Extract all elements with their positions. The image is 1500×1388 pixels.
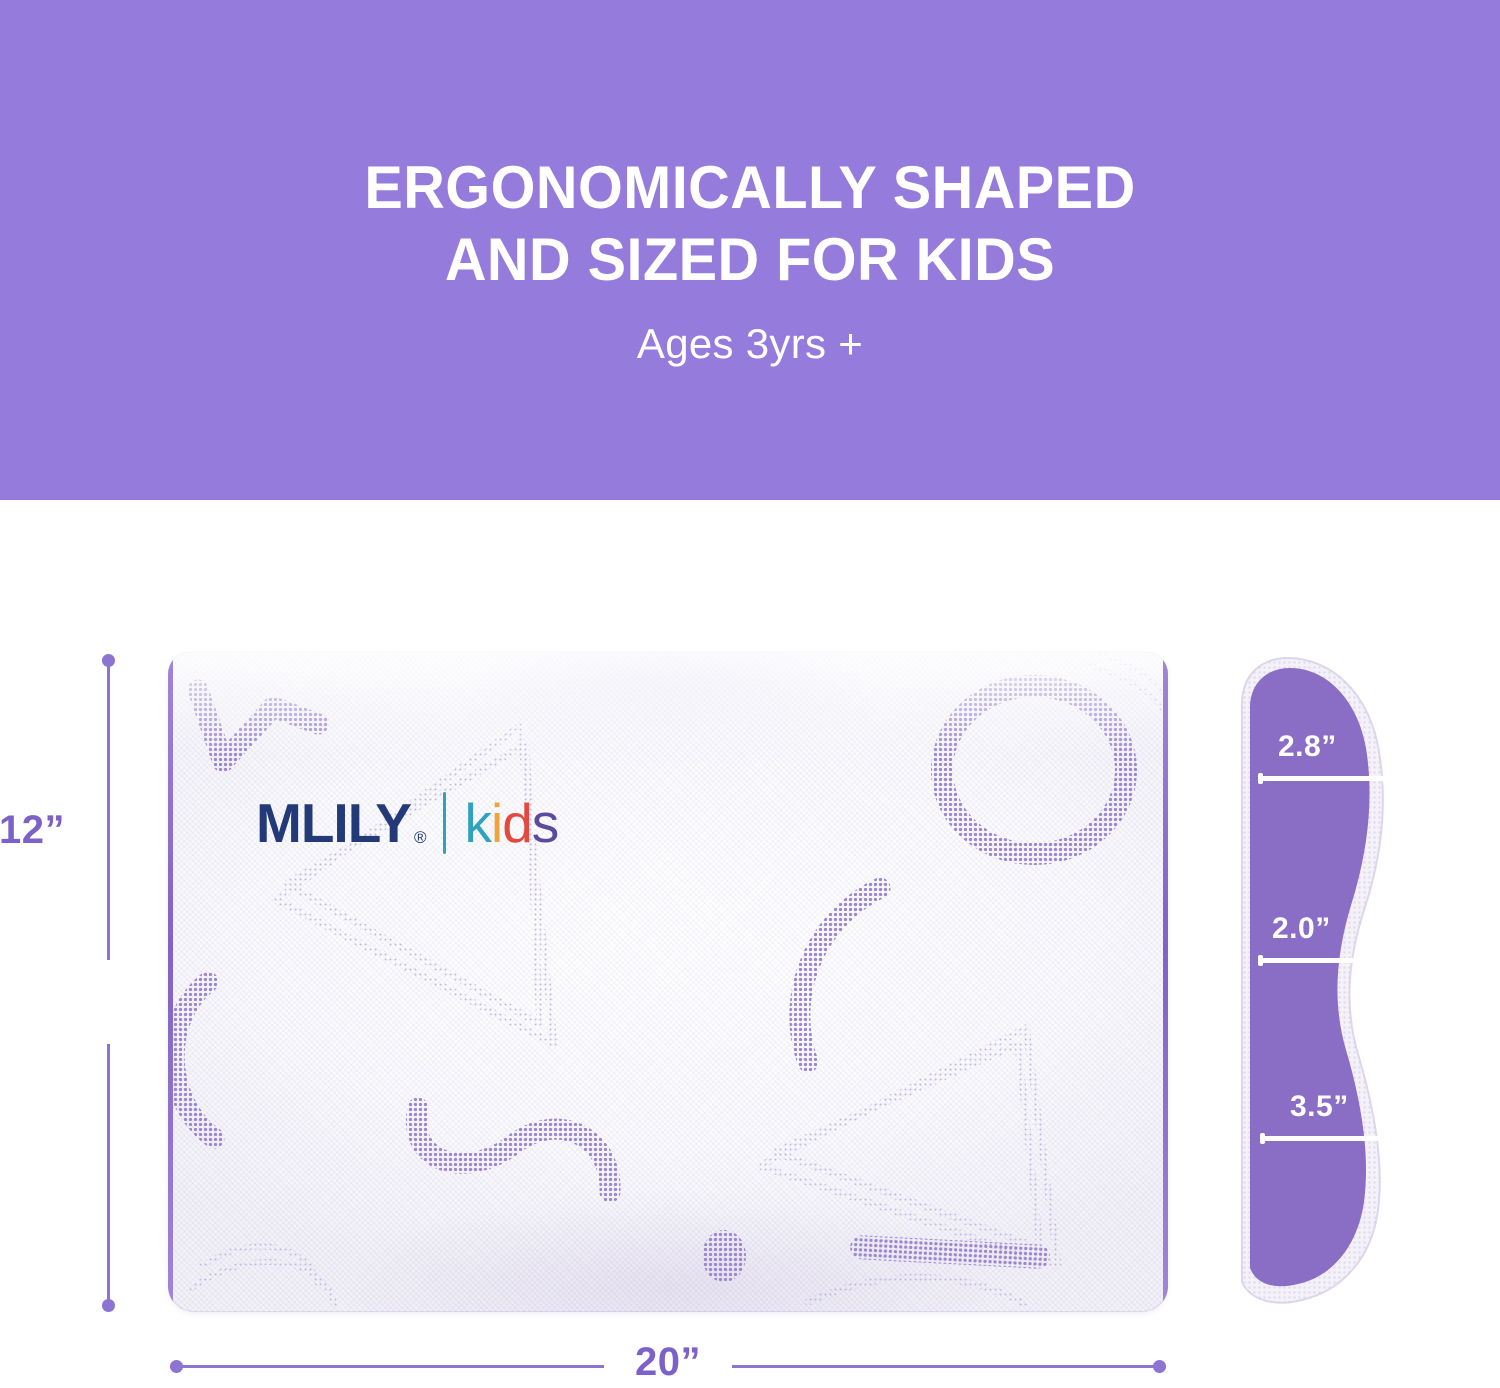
- mlily-wordmark: MLILY ®: [256, 796, 425, 851]
- kids-letter-k: k: [464, 796, 491, 851]
- kids-letter-i: i: [491, 796, 502, 851]
- age-subtitle: Ages 3yrs +: [0, 318, 1500, 370]
- height-dimension-line: [76, 652, 140, 1312]
- width-dimension-label: 20”: [604, 1340, 732, 1385]
- fabric-sheen-highlight: [168, 652, 1168, 1312]
- dimension-line-segment: [732, 1365, 1160, 1368]
- kids-letter-d: d: [502, 796, 532, 851]
- height-dimension-label: 12”: [0, 808, 76, 853]
- pillow-piping-left: [168, 658, 173, 1306]
- product-diagram-area: 12” 20”: [0, 500, 1500, 1388]
- registered-trademark-icon: ®: [414, 829, 426, 846]
- dimension-line-segment: [176, 1365, 604, 1368]
- profile-foam-core: [1250, 668, 1370, 1286]
- header-banner: ERGONOMICALLY SHAPED AND SIZED FOR KIDS …: [0, 0, 1500, 500]
- kids-letter-s: s: [532, 796, 559, 851]
- logo-divider: [443, 792, 446, 854]
- dimension-endpoint-dot-icon: [1153, 1360, 1166, 1373]
- pillow-front-view: MLILY ® k i d s: [168, 652, 1168, 1312]
- mlily-text: MLILY: [256, 796, 411, 851]
- profile-silhouette: [1232, 650, 1432, 1314]
- dimension-line-segment: [107, 660, 110, 960]
- width-dimension-line: 20”: [170, 1352, 1166, 1382]
- mlily-kids-logo: MLILY ® k i d s: [256, 792, 558, 854]
- pillow-piping-right: [1163, 658, 1168, 1306]
- pillow-fabric-body: [168, 652, 1168, 1312]
- dimension-line-segment: [107, 1044, 110, 1306]
- pillow-side-profile-view: 2.8” 2.0” 3.5”: [1232, 650, 1432, 1314]
- page-title: ERGONOMICALLY SHAPED AND SIZED FOR KIDS: [30, 152, 1470, 296]
- dimension-endpoint-dot-icon: [102, 1299, 115, 1312]
- kids-wordmark: k i d s: [464, 796, 558, 851]
